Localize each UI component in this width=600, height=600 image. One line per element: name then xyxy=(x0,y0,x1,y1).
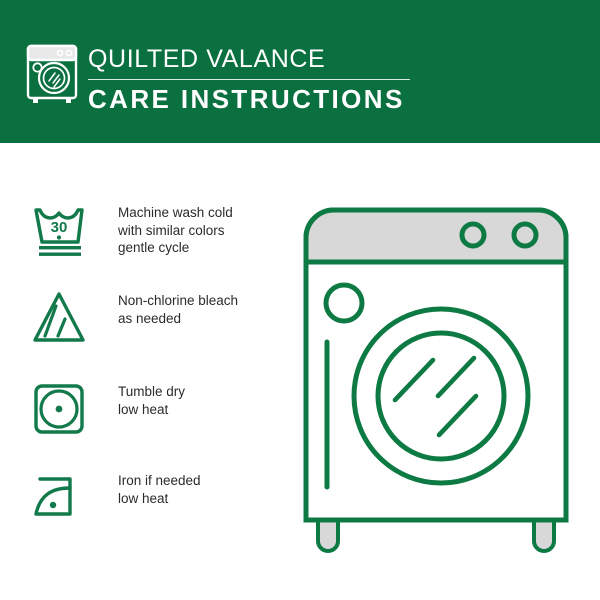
washer-legs xyxy=(318,518,554,551)
title-divider xyxy=(88,79,410,80)
care-label-line: Iron if needed xyxy=(118,472,201,490)
care-label-wash: Machine wash cold with similar colors ge… xyxy=(118,198,233,257)
care-row-bleach: Non-chlorine bleach as needed xyxy=(26,286,286,350)
care-label-iron: Iron if needed low heat xyxy=(118,466,201,507)
iron-low-heat-symbol xyxy=(26,466,98,530)
header-banner: QUILTED VALANCE CARE INSTRUCTIONS xyxy=(0,0,600,143)
tumble-dry-low-symbol xyxy=(26,377,98,441)
page-title: QUILTED VALANCE xyxy=(88,44,568,74)
care-instructions-page: QUILTED VALANCE CARE INSTRUCTIONS 30 Mac… xyxy=(0,0,600,600)
wash-temp-value: 30 xyxy=(51,219,68,236)
care-label-bleach: Non-chlorine bleach as needed xyxy=(118,286,238,327)
machine-wash-30-gentle-symbol: 30 xyxy=(26,198,98,262)
control-knob xyxy=(462,224,484,246)
care-label-line: Tumble dry xyxy=(118,383,185,401)
care-label-line: with similar colors xyxy=(118,222,233,240)
care-row-iron: Iron if needed low heat xyxy=(26,466,286,530)
care-label-line: as needed xyxy=(118,310,238,328)
header-text-block: QUILTED VALANCE CARE INSTRUCTIONS xyxy=(88,44,568,115)
care-label-line: low heat xyxy=(118,401,185,419)
washing-machine-icon xyxy=(24,42,80,104)
front-load-washing-machine-illustration xyxy=(296,200,576,560)
care-label-line: gentle cycle xyxy=(118,239,233,257)
care-row-dry: Tumble dry low heat xyxy=(26,377,286,441)
control-knob xyxy=(514,224,536,246)
detergent-dispenser xyxy=(326,285,362,321)
care-label-line: Non-chlorine bleach xyxy=(118,292,238,310)
page-subtitle: CARE INSTRUCTIONS xyxy=(88,84,568,115)
non-chlorine-bleach-symbol xyxy=(26,286,98,350)
care-label-line: low heat xyxy=(118,490,201,508)
care-label-line: Machine wash cold xyxy=(118,204,233,222)
care-row-wash: 30 Machine wash cold with similar colors… xyxy=(26,198,286,262)
care-label-dry: Tumble dry low heat xyxy=(118,377,185,418)
